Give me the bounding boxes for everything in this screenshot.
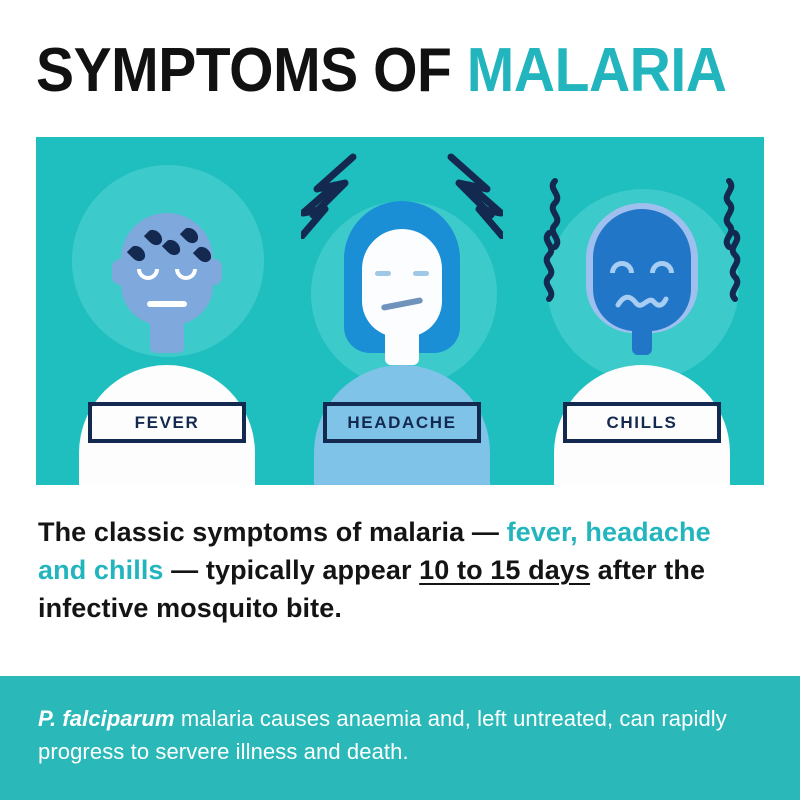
footer-species-name: P. falciparum [38, 706, 175, 731]
lightning-bolt-icon [437, 153, 503, 239]
eye-right-icon [650, 261, 674, 273]
label-fever: FEVER [88, 402, 246, 443]
title-black-part: SYMPTOMS OF [36, 36, 467, 105]
ear-right-icon [206, 259, 222, 285]
eye-left-icon [375, 271, 391, 276]
eye-right-icon [175, 269, 197, 280]
body-underlined-duration: 10 to 15 days [419, 555, 590, 585]
body-text-segment: mosquito bite. [156, 593, 342, 623]
shiver-squiggle-icon [539, 177, 595, 305]
lightning-bolt-icon [301, 153, 367, 239]
title-teal-part: MALARIA [467, 36, 727, 105]
sweat-drop-icon [162, 237, 183, 258]
label-chills: CHILLS [563, 402, 721, 443]
head-headache [362, 229, 442, 337]
sweat-drop-icon [127, 243, 148, 264]
mouth-icon [381, 297, 423, 311]
mouth-icon [147, 301, 187, 307]
label-headache: HEADACHE [323, 402, 481, 443]
ear-left-icon [112, 259, 128, 285]
footer-note: P. falciparum malaria causes anaemia and… [38, 702, 762, 768]
eye-left-icon [610, 261, 634, 273]
footer-band: P. falciparum malaria causes anaemia and… [0, 676, 800, 800]
body-text-segment: — typically appear [164, 555, 420, 585]
body-paragraph: The classic symptoms of malaria — fever,… [38, 513, 750, 627]
mouth-icon [614, 293, 670, 311]
head-chills [593, 209, 691, 331]
head-fever [121, 213, 213, 325]
figure-headache: HEADACHE [281, 137, 523, 485]
page-title: SYMPTOMS OF MALARIA [36, 28, 766, 114]
illustration-panel: FEVER HEADACHE [36, 137, 764, 485]
eye-left-icon [137, 269, 159, 280]
figure-fever: FEVER [46, 137, 288, 485]
figure-chills: CHILLS [521, 137, 763, 485]
body-text-segment: The classic symptoms of malaria — [38, 517, 507, 547]
sweat-drop-icon [180, 225, 201, 246]
shiver-squiggle-icon [689, 177, 745, 305]
body-highlight-symptoms-b: chills [94, 555, 164, 585]
eye-right-icon [413, 271, 429, 276]
